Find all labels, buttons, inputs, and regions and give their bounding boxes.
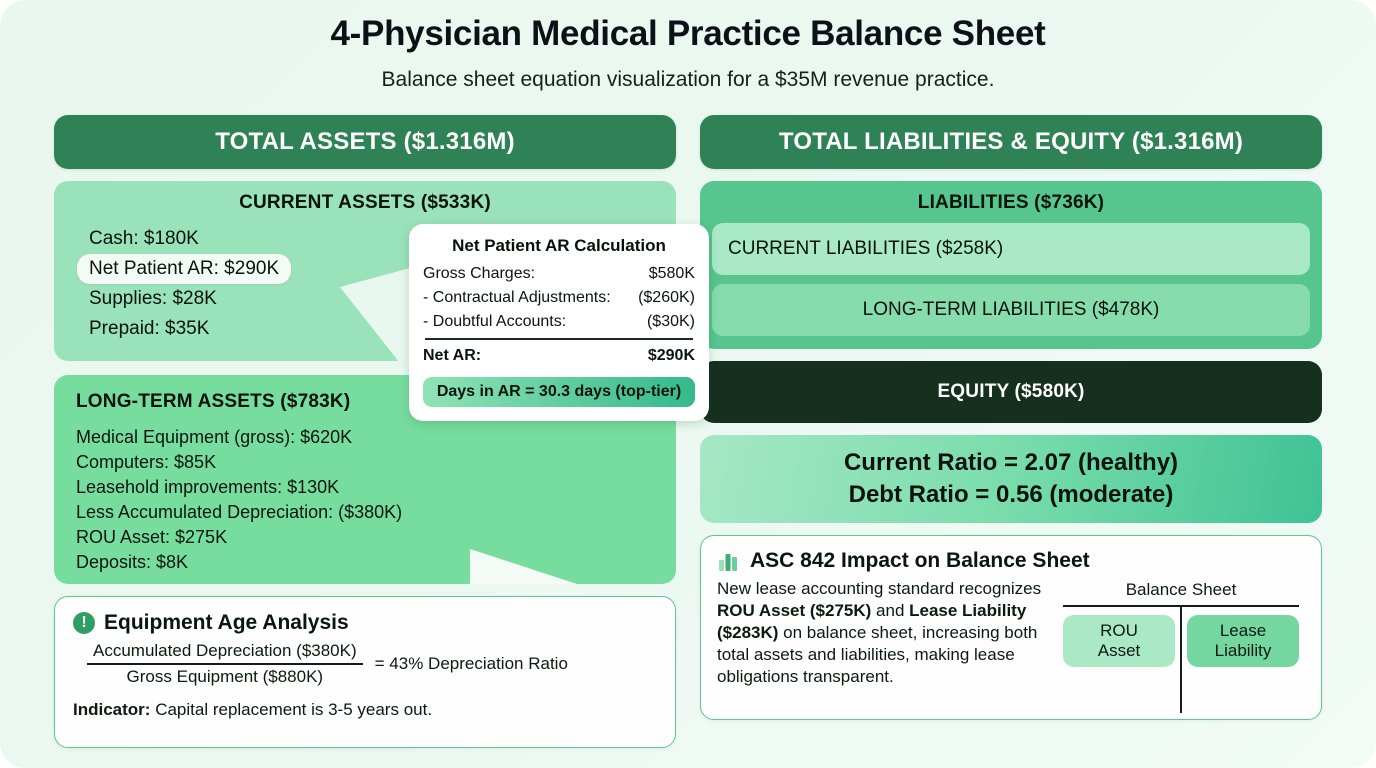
mini-box-rou-line1: ROU xyxy=(1100,621,1138,641)
mini-balance-sheet-title: Balance Sheet xyxy=(1057,580,1305,600)
current-asset-prepaid: Prepaid: $35K xyxy=(89,318,209,339)
ar-line-value: ($260K) xyxy=(638,286,695,310)
mini-box-lease-line1: Lease xyxy=(1220,621,1266,641)
mini-balance-sheet: Balance Sheet ROU Asset Lease Liability xyxy=(1057,578,1305,713)
liabilities-title: LIABILITIES ($736K) xyxy=(712,192,1310,214)
ar-total-rule xyxy=(425,338,693,340)
indicator-label: Indicator: xyxy=(73,700,150,719)
ar-line-value: $580K xyxy=(649,262,695,286)
asc-bold-rou-asset: ROU Asset ($275K) xyxy=(717,601,871,620)
page-subtitle: Balance sheet equation visualization for… xyxy=(0,68,1376,92)
ar-callout-pointer xyxy=(340,267,414,381)
equipment-age-header: ! Equipment Age Analysis xyxy=(73,611,655,635)
asc842-body: New lease accounting standard recognizes… xyxy=(717,578,1305,713)
ratios-card: Current Ratio = 2.07 (healthy) Debt Rati… xyxy=(700,435,1322,523)
list-item: Leasehold improvements: $130K xyxy=(76,475,676,500)
asc-text-part2: and xyxy=(871,601,909,620)
ar-line-label: - Doubtful Accounts: xyxy=(423,310,566,334)
asc842-card: ASC 842 Impact on Balance Sheet New leas… xyxy=(700,535,1322,720)
ar-line: - Contractual Adjustments: ($260K) xyxy=(423,286,695,310)
assets-column: TOTAL ASSETS ($1.316M) CURRENT ASSETS ($… xyxy=(54,115,676,748)
ar-tooltip-title: Net Patient AR Calculation xyxy=(423,236,695,256)
list-item: ROU Asset: $275K xyxy=(76,525,676,550)
equipment-age-title: Equipment Age Analysis xyxy=(104,611,349,635)
equipment-age-card: ! Equipment Age Analysis Accumulated Dep… xyxy=(54,596,676,748)
fraction-numerator: Accumulated Depreciation ($380K) xyxy=(87,641,363,663)
list-item: Deposits: $8K xyxy=(76,550,676,575)
current-assets-title: CURRENT ASSETS ($533K) xyxy=(54,181,676,214)
ar-line: Gross Charges: $580K xyxy=(423,262,695,286)
mini-box-lease-line2: Liability xyxy=(1215,641,1272,661)
asc842-header: ASC 842 Impact on Balance Sheet xyxy=(717,549,1305,573)
ar-total-value: $290K xyxy=(648,344,695,368)
debt-ratio: Debt Ratio = 0.56 (moderate) xyxy=(849,481,1174,509)
fraction-result: = 43% Depreciation Ratio xyxy=(375,654,568,674)
current-asset-supplies: Supplies: $28K xyxy=(89,288,217,309)
fraction: Accumulated Depreciation ($380K) Gross E… xyxy=(87,641,363,687)
ar-line-label: - Contractual Adjustments: xyxy=(423,286,611,310)
mini-balance-sheet-grid: ROU Asset Lease Liability xyxy=(1057,607,1305,713)
list-item: Less Accumulated Depreciation: ($380K) xyxy=(76,500,676,525)
ar-total-line: Net AR: $290K xyxy=(423,344,695,368)
total-assets-bar: TOTAL ASSETS ($1.316M) xyxy=(54,115,676,169)
mini-box-rou-line2: Asset xyxy=(1098,641,1141,661)
asc842-title: ASC 842 Impact on Balance Sheet xyxy=(750,549,1090,573)
list-item: Computers: $85K xyxy=(76,450,676,475)
current-asset-cash: Cash: $180K xyxy=(89,228,199,249)
current-asset-net-patient-ar[interactable]: Net Patient AR: $290K xyxy=(77,254,291,284)
bar-chart-icon xyxy=(717,549,741,573)
infographic-canvas: 4-Physician Medical Practice Balance She… xyxy=(0,0,1376,768)
net-patient-ar-tooltip: Net Patient AR Calculation Gross Charges… xyxy=(409,224,709,421)
ar-line: - Doubtful Accounts: ($30K) xyxy=(423,310,695,334)
indicator-text: Capital replacement is 3-5 years out. xyxy=(155,700,432,719)
equipment-age-indicator: Indicator: Capital replacement is 3-5 ye… xyxy=(73,700,655,720)
ar-line-label: Gross Charges: xyxy=(423,262,535,286)
asc-text-part1: New lease accounting standard recognizes xyxy=(717,579,1041,598)
ar-line-value: ($30K) xyxy=(647,310,695,334)
list-item: Medical Equipment (gross): $620K xyxy=(76,425,676,450)
liabilities-equity-column: TOTAL LIABILITIES & EQUITY ($1.316M) LIA… xyxy=(700,115,1322,720)
days-in-ar-badge: Days in AR = 30.3 days (top-tier) xyxy=(423,377,695,407)
mini-balance-sheet-divider xyxy=(1180,607,1182,713)
total-liabilities-equity-bar: TOTAL LIABILITIES & EQUITY ($1.316M) xyxy=(700,115,1322,169)
depreciation-ratio-formula: Accumulated Depreciation ($380K) Gross E… xyxy=(73,641,655,687)
current-ratio: Current Ratio = 2.07 (healthy) xyxy=(844,449,1178,477)
mini-box-lease-liability: Lease Liability xyxy=(1187,615,1299,667)
alert-icon: ! xyxy=(73,612,95,634)
ar-total-label: Net AR: xyxy=(423,344,481,368)
asc842-description: New lease accounting standard recognizes… xyxy=(717,578,1047,713)
current-liabilities-row: CURRENT LIABILITIES ($258K) xyxy=(712,223,1310,275)
callout-notch xyxy=(470,549,580,584)
equity-bar: EQUITY ($580K) xyxy=(700,361,1322,423)
mini-box-rou-asset: ROU Asset xyxy=(1063,615,1175,667)
liabilities-panel: LIABILITIES ($736K) CURRENT LIABILITIES … xyxy=(700,181,1322,349)
long-term-liabilities-row: LONG-TERM LIABILITIES ($478K) xyxy=(712,284,1310,336)
page-title: 4-Physician Medical Practice Balance She… xyxy=(0,14,1376,54)
fraction-denominator: Gross Equipment ($880K) xyxy=(87,665,363,687)
